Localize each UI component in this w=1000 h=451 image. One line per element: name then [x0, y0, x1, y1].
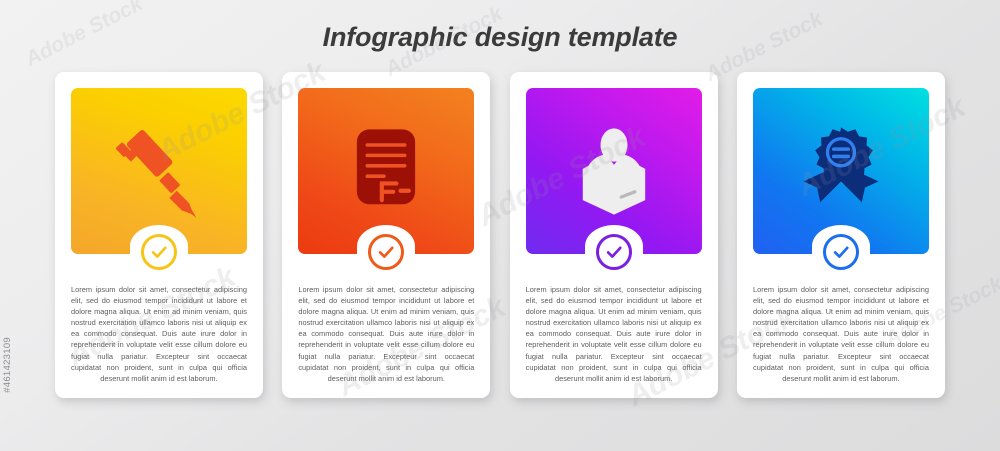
card-award-ribbon-panel [753, 88, 929, 254]
pen-icon [107, 119, 211, 223]
exam-document-f-grade-icon [334, 119, 438, 223]
page-title: Infographic design template [0, 22, 1000, 53]
award-ribbon-medal-icon [789, 119, 893, 223]
card-pen-check-badge[interactable] [139, 232, 179, 272]
card-pen-body-text: Lorem ipsum dolor sit amet, consectetur … [71, 284, 247, 384]
card-exam-document[interactable]: Lorem ipsum dolor sit amet, consectetur … [282, 72, 490, 398]
check-circle-icon [604, 242, 624, 262]
check-circle-icon [831, 242, 851, 262]
card-award-ribbon-check-badge[interactable] [821, 232, 861, 272]
card-award-ribbon-body-text: Lorem ipsum dolor sit amet, consectetur … [753, 284, 929, 384]
watermark-id: #461423109 [2, 337, 13, 393]
card-person-reading-body-text: Lorem ipsum dolor sit amet, consectetur … [526, 284, 702, 384]
card-award-ribbon[interactable]: Lorem ipsum dolor sit amet, consectetur … [737, 72, 945, 398]
card-person-reading-check-badge[interactable] [594, 232, 634, 272]
card-exam-document-check-badge[interactable] [366, 232, 406, 272]
card-pen-panel [71, 88, 247, 254]
card-exam-document-panel [298, 88, 474, 254]
card-person-reading-panel [526, 88, 702, 254]
card-person-reading[interactable]: Lorem ipsum dolor sit amet, consectetur … [510, 72, 718, 398]
check-circle-icon [376, 242, 396, 262]
check-circle-icon [149, 242, 169, 262]
card-exam-document-body-text: Lorem ipsum dolor sit amet, consectetur … [298, 284, 474, 384]
card-pen[interactable]: Lorem ipsum dolor sit amet, consectetur … [55, 72, 263, 398]
cards-row: Lorem ipsum dolor sit amet, consectetur … [55, 72, 945, 398]
person-reading-book-icon [562, 119, 666, 223]
